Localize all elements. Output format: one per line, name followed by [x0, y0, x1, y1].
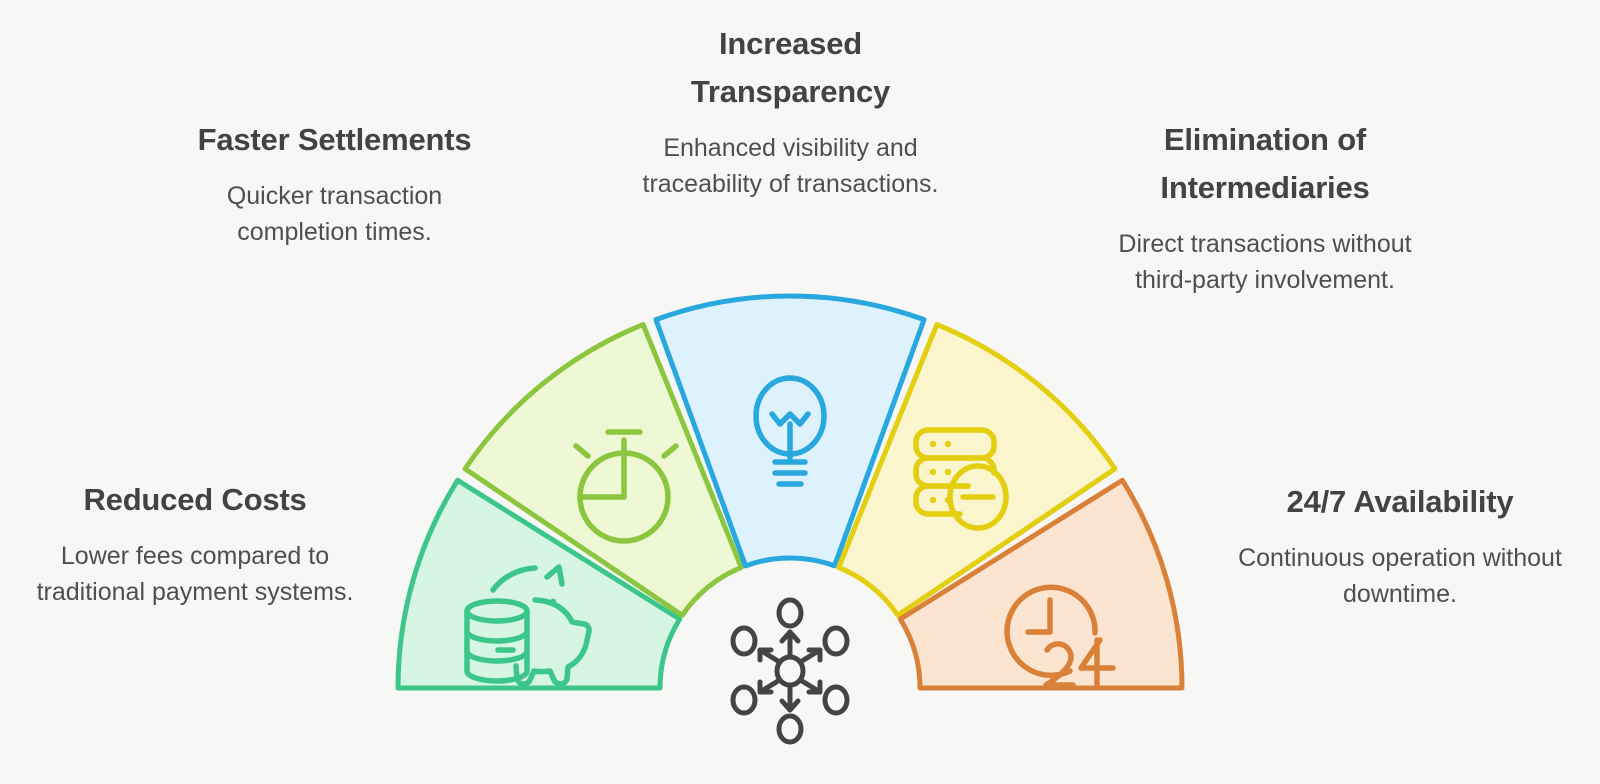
network-distribution-icon	[733, 600, 847, 742]
fan-diagram	[0, 0, 1600, 784]
infographic-canvas: Reduced Costs Lower fees compared to tra…	[0, 0, 1600, 784]
